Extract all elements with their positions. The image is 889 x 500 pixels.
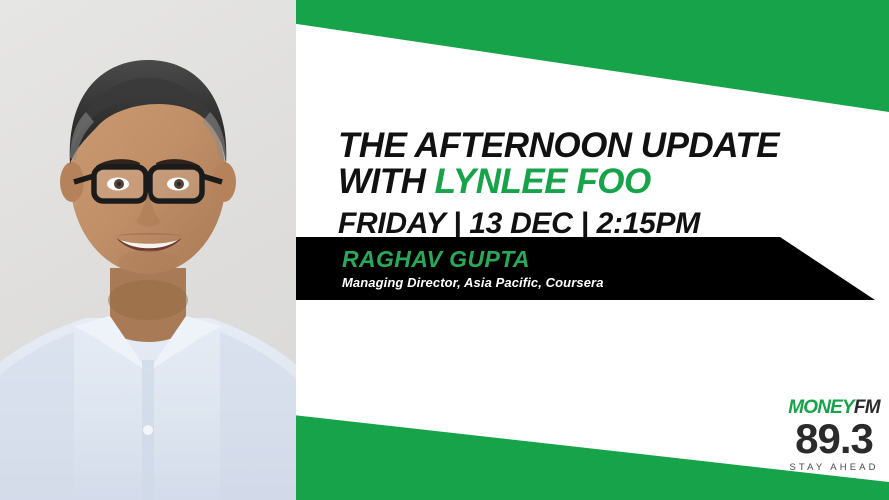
speaker-banner: RAGHAV GUPTA Managing Director, Asia Pac… <box>296 237 889 300</box>
speaker-portrait-image <box>0 0 296 500</box>
station-frequency: 89.3 <box>784 418 884 460</box>
speaker-portrait-panel <box>0 0 296 500</box>
headline-block: THE AFTERNOON UPDATE WITH LYNLEE FOO FRI… <box>338 128 868 241</box>
show-title-line1: THE AFTERNOON UPDATE <box>338 128 868 164</box>
show-title-line2: WITH LYNLEE FOO <box>338 164 868 200</box>
promo-graphic: THE AFTERNOON UPDATE WITH LYNLEE FOO FRI… <box>0 0 889 500</box>
station-logo: MONEYFM 89.3 STAY AHEAD <box>784 398 884 473</box>
speaker-role: Managing Director, Asia Pacific, Courser… <box>342 275 604 290</box>
speaker-name: RAGHAV GUPTA <box>342 246 530 273</box>
show-title-with-label: WITH <box>338 162 435 201</box>
show-host-name: LYNLEE FOO <box>435 162 651 201</box>
show-schedule: FRIDAY | 13 DEC | 2:15PM <box>338 207 868 241</box>
station-tagline: STAY AHEAD <box>784 463 884 473</box>
